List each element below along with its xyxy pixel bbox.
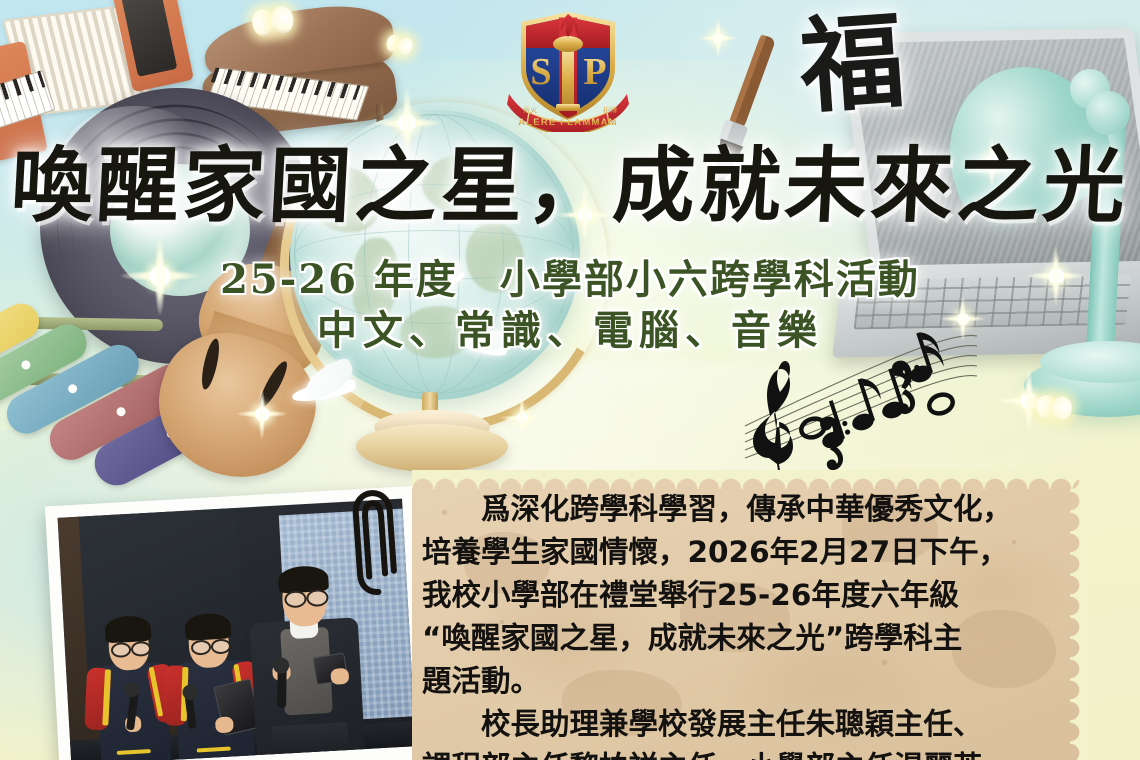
school-crest-logo: S P ALERE FLAMMAM 薪火 相傳 (507, 8, 629, 132)
body-line: 爲深化跨學科學習，傳承中華優秀文化， (422, 488, 1074, 531)
body-line: 題活動。 (422, 660, 1074, 703)
body-text: 爲深化跨學科學習，傳承中華優秀文化， 培養學生家國情懷，2026年2月27日下午… (422, 488, 1074, 760)
body-line: 培養學生家國情懷，2026年2月27日下午， (422, 531, 1074, 574)
parchment-panel: 爲深化跨學科學習，傳承中華優秀文化， 培養學生家國情懷，2026年2月27日下午… (412, 470, 1088, 760)
parchment-torn-top-edge (412, 470, 1088, 489)
crest-chinese-right: 相傳 (603, 105, 617, 114)
crest-chinese-left: 薪火 (523, 105, 537, 114)
page-title: 喚醒家國之星，成就未來之光 (0, 145, 1140, 227)
paperclip-icon (348, 487, 402, 602)
subtitle-line-2: 中文、常識、電腦、音樂 (0, 298, 1140, 356)
crest-letter-p: P (583, 51, 606, 93)
poster-canvas: S P ALERE FLAMMAM 薪火 相傳 福 喚醒家國之星，成就未來之光 … (0, 0, 1140, 760)
body-line: “喚醒家國之星，成就未來之光”跨學科主 (422, 617, 1074, 660)
crest-motto: ALERE FLAMMAM (518, 117, 618, 128)
fortune-character: 福 (796, 8, 907, 119)
subtitle-line-1: 25-26 年度 小學部小六跨學科活動 (0, 247, 1140, 305)
body-line: 校長助理兼學校發展主任朱聰穎主任、 (422, 703, 1074, 746)
body-line: 我校小學部在禮堂舉行25-26年度六年級 (422, 574, 1074, 617)
crest-letter-s: S (530, 51, 551, 93)
body-line: 課程部主任黎柏祥主任、小學部主任湯麗英 (422, 746, 1074, 760)
